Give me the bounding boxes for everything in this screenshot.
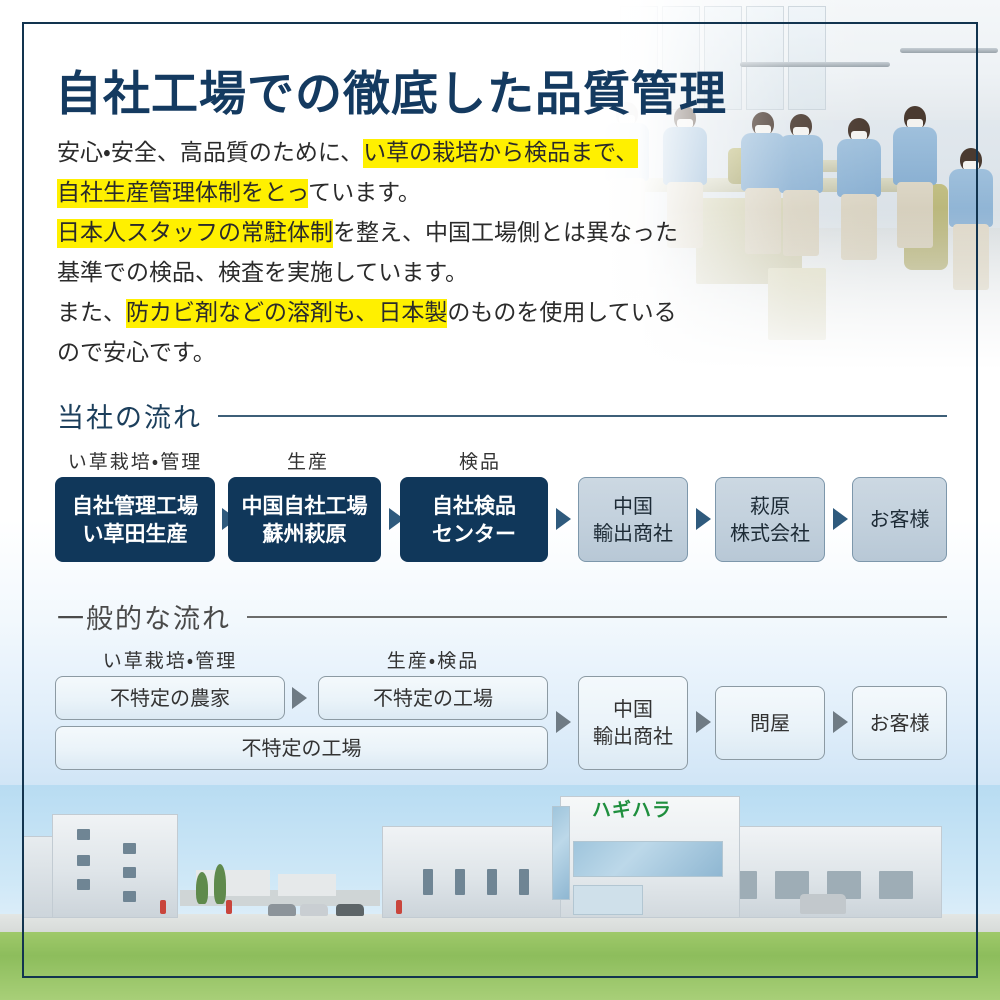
flow-arrow [556,508,571,530]
box-line: センター [432,520,516,548]
box-line: お客様 [870,710,930,737]
flow-stage-label: い草栽培・管理 [55,447,215,474]
flow-stage-label: 生産・検品 [318,646,548,673]
body-line: ので安心です。 [57,333,697,373]
box-line: 不特定の農家 [110,685,230,712]
flow-box-china-export-trader: 中国 輸出商社 [578,477,688,562]
body-span: 基準での検品、検査を実施しています。 [57,260,468,286]
body-line: 日本人スタッフの常駐体制を整え、中国工場側とは異なった [57,213,697,253]
flow-arrow [696,711,711,733]
box-line: 問屋 [750,710,790,737]
body-span: のものを使用している [447,300,676,326]
flow-box-china-export-trader-general: 中国 輸出商社 [578,676,688,770]
body-span-highlight: 防カビ剤などの溶剤も、 [126,299,378,328]
heading-rule [218,415,947,417]
flow-box-hagihara-corp: 萩原 株式会社 [715,477,825,562]
flow-arrow [556,711,571,733]
body-line: 自社生産管理体制をとっています。 [57,173,697,213]
body-copy: 安心・安全、高品質のために、い草の栽培から検品まで、 自社生産管理体制をとってい… [57,133,697,373]
body-span: 安心・安全、高品質のために、 [57,140,363,166]
box-line: 輸出商社 [593,723,673,750]
section-heading-label: 一般的な流れ [57,597,231,636]
box-line: 中国 [613,493,653,520]
box-line: 中国自社工場 [242,492,368,520]
body-line: 安心・安全、高品質のために、い草の栽培から検品まで、 [57,133,697,173]
flow-arrow [833,508,848,530]
section-heading-label: 当社の流れ [57,396,202,435]
flow-box-inspection-center: 自社検品 センター [400,477,548,562]
box-line: 不特定の工場 [242,735,362,762]
box-line: 自社管理工場 [72,492,198,520]
flow-box-unspecified-farm: 不特定の農家 [55,676,285,720]
flow-box-china-own-factory: 中国自社工場 蘇州萩原 [228,477,381,562]
poster-root: ハギハラ 自社工場での徹底した品質管理 安心・安全、高品質のために、い草の栽培か… [0,0,1000,1000]
page-title: 自社工場での徹底した品質管理 [55,55,727,124]
flow-stage-label: い草栽培・管理 [55,646,285,673]
flow-box-customer: お客様 [852,477,947,562]
body-span-highlight: 日本人スタッフの常駐体制 [57,219,333,248]
body-span: ので安心です。 [57,340,216,366]
body-span-highlight: い草の栽培から検品まで、 [363,139,638,168]
body-span: を整え、中国工場側とは異なった [333,220,678,246]
box-line: 自社検品 [432,492,516,520]
body-span: ています。 [308,180,421,206]
heading-rule [247,616,947,618]
box-line: 中国 [613,696,653,723]
box-line: 不特定の工場 [373,685,493,712]
flow-stage-label: 検品 [400,447,560,474]
box-line: 輸出商社 [593,520,673,547]
content-layer: 自社工場での徹底した品質管理 安心・安全、高品質のために、い草の栽培から検品まで… [0,0,1000,1000]
body-line: また、防カビ剤などの溶剤も、日本製のものを使用している [57,293,697,333]
box-line: 萩原 [750,493,790,520]
flow-box-unspecified-factory-top: 不特定の工場 [318,676,548,720]
flow-arrow [696,508,711,530]
flow-stage-label: 生産 [228,447,388,474]
flow-box-unspecified-factory-wide: 不特定の工場 [55,726,548,770]
body-span: また、 [57,300,126,326]
flow-box-own-managed-factory: 自社管理工場 い草田生産 [55,477,215,562]
section-heading-our-flow: 当社の流れ [57,396,947,435]
section-heading-general-flow: 一般的な流れ [57,597,947,636]
flow-box-wholesaler: 問屋 [715,686,825,760]
flow-arrow [833,711,848,733]
body-span-highlight: 自社生産管理体制をとっ [57,179,308,208]
flow-box-customer-general: お客様 [852,686,947,760]
box-line: 株式会社 [730,520,810,547]
flow-arrow [292,687,307,709]
box-line: 蘇州萩原 [263,520,347,548]
body-span-highlight: 日本製 [378,299,447,328]
box-line: お客様 [870,506,930,533]
box-line: い草田生産 [83,520,188,548]
body-line: 基準での検品、検査を実施しています。 [57,253,697,293]
